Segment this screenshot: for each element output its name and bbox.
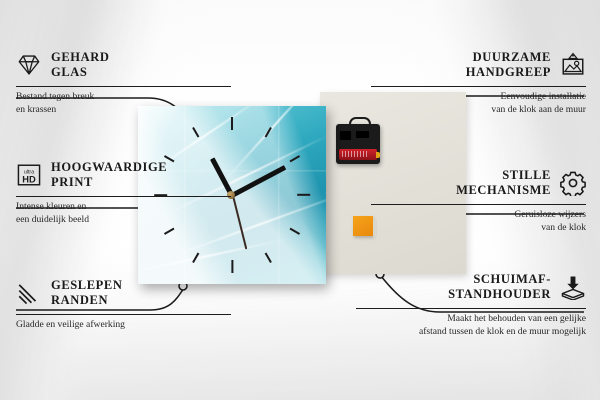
feature-divider [356,308,586,309]
ultra-hd-icon: ultra HD [16,162,42,188]
feature-title: HOOGWAARDIGE PRINT [51,160,167,191]
feature-title: DUURZAME HANDGREEP [466,50,551,81]
feature-title: GEHARD GLAS [51,50,109,81]
svg-text:HD: HD [22,175,36,185]
feature-divider [16,86,231,87]
battery [339,149,377,160]
feature-title: STILLE MECHANISME [456,168,551,199]
movement-slot-right [356,131,369,138]
clock-tick-12 [231,117,233,130]
feature-hoogwaardige-print: ultra HD HOOGWAARDIGE PRINT Intense kleu… [16,160,231,227]
feature-divider [371,204,586,205]
feature-description: Bestand tegen breuk en krassen [16,91,231,117]
feature-schuimafstandhouder: SCHUIMAF- STANDHOUDER Maakt het behouden… [356,272,586,339]
feature-divider [371,86,586,87]
battery-label [342,151,368,157]
feature-title: GESLEPEN RANDEN [51,278,123,309]
beveled-edges-icon [16,280,42,306]
feature-description: Gladde en veilige afwerking [16,319,231,332]
gear-icon [560,170,586,196]
feature-description: Intense kleuren en een duidelijk beeld [16,201,231,227]
feature-description: Eenvoudige installatie van de klok aan d… [371,91,586,117]
foam-spacer-icon [560,274,586,300]
infographic-canvas: GEHARD GLAS Bestand tegen breuk en krass… [0,0,600,400]
feature-divider [16,314,231,315]
picture-hanger-icon [560,52,586,78]
clock-tick-6 [231,260,233,273]
feature-divider [16,196,231,197]
foam-spacer-pad [353,216,373,236]
movement-slot-left [340,131,351,140]
feature-geslepen-randen: GESLEPEN RANDEN Gladde en veilige afwerk… [16,278,231,332]
clock-tick-3 [297,194,310,196]
feature-gehard-glas: GEHARD GLAS Bestand tegen breuk en krass… [16,50,231,117]
feature-title: SCHUIMAF- STANDHOUDER [448,272,551,303]
feature-duurzame-handgreep: DUURZAME HANDGREEP Eenvoudige installati… [371,50,586,117]
feature-description: Geruisloze wijzers van de klok [371,209,586,235]
movement-hanger-icon [349,117,371,128]
feature-description: Maakt het behouden van een gelijke afsta… [356,313,586,339]
battery-terminal [376,152,380,158]
diamond-icon [16,52,42,78]
feature-stille-mechanisme: STILLE MECHANISME Geruisloze wijzers van… [371,168,586,235]
quartz-movement [336,124,380,164]
